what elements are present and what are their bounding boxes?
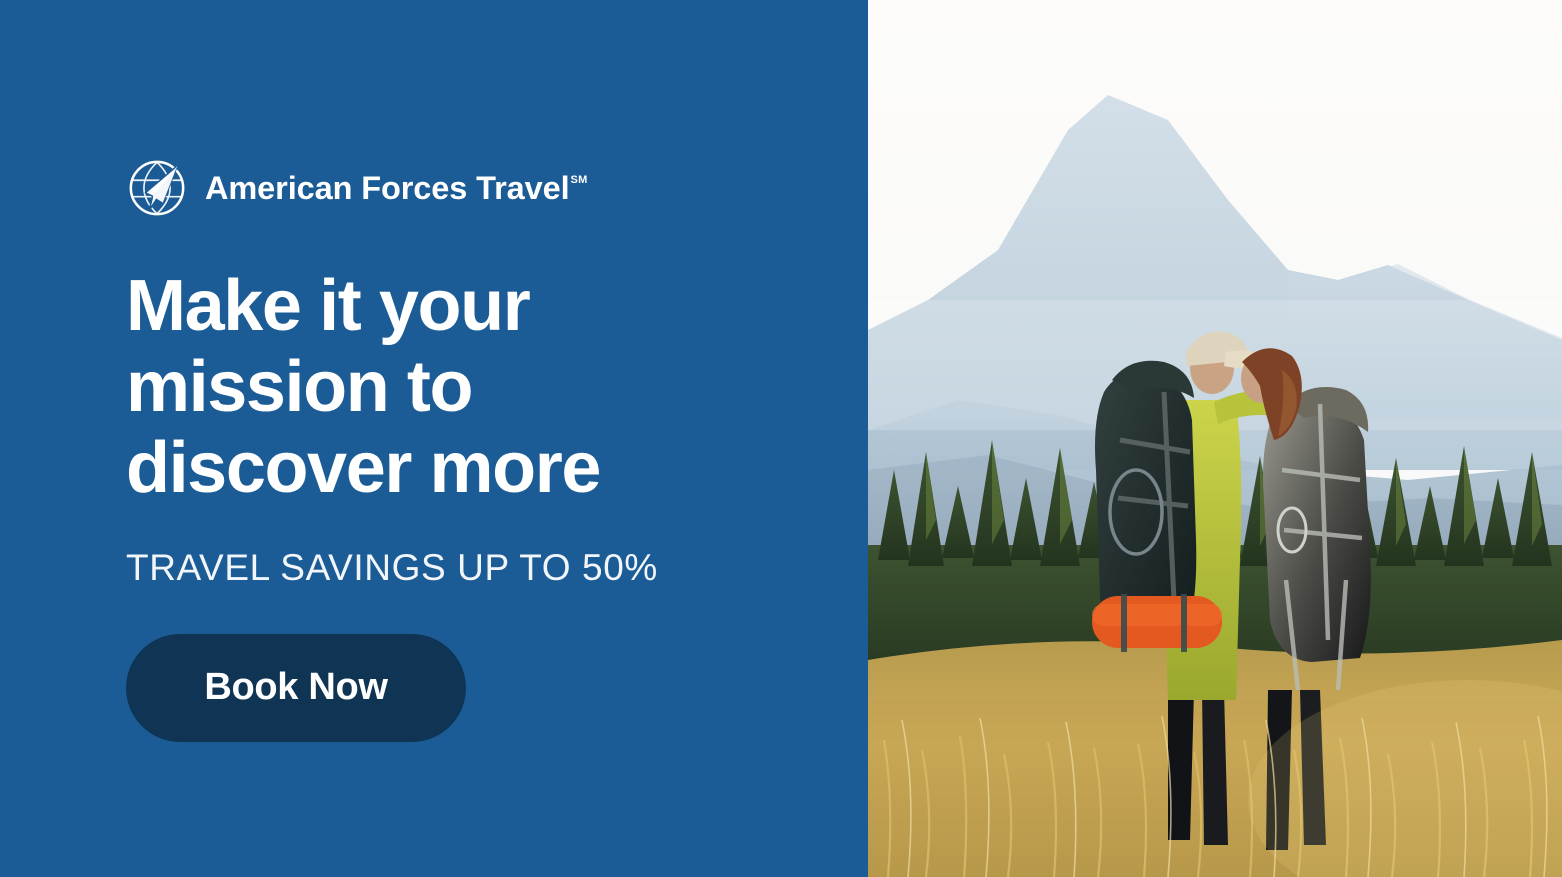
headline-line-2: mission to: [126, 347, 746, 428]
brand-name: American Forces TravelSM: [205, 172, 587, 205]
promotional-banner: American Forces TravelSM Make it your mi…: [0, 0, 1562, 877]
service-mark: SM: [571, 174, 588, 186]
compass-globe-plane-icon: [126, 157, 188, 219]
brand-name-text: American Forces Travel: [205, 170, 570, 206]
headline-line-1: Make it your: [126, 266, 746, 347]
hero-photo: [868, 0, 1562, 877]
book-now-button[interactable]: Book Now: [126, 634, 466, 742]
headline-line-3: discover more: [126, 428, 746, 509]
page-title: Make it your mission to discover more: [126, 219, 746, 509]
promo-panel: American Forces TravelSM Make it your mi…: [0, 0, 868, 877]
hikers-mountain-illustration: [868, 0, 1562, 877]
subheadline: TRAVEL SAVINGS UP TO 50%: [126, 509, 868, 589]
brand-lockup[interactable]: American Forces TravelSM: [126, 157, 868, 219]
